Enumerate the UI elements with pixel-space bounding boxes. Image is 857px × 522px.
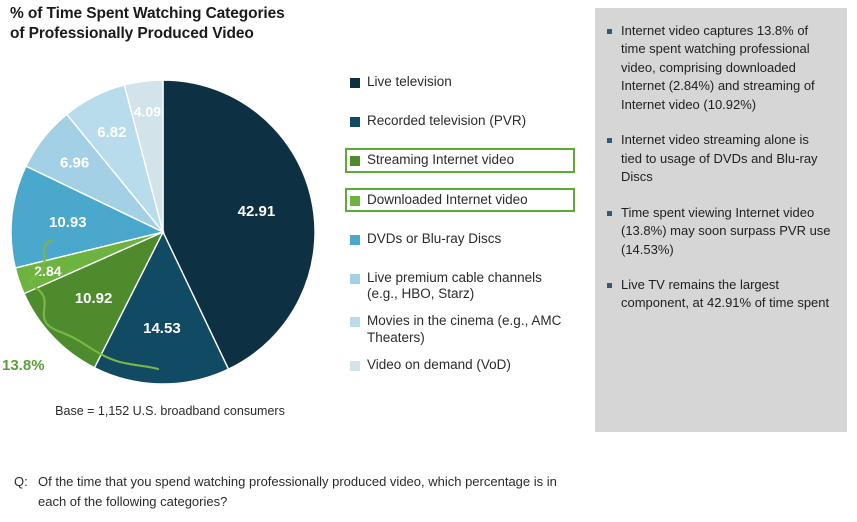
legend-item[interactable]: Recorded television (PVR) — [345, 109, 575, 133]
page-title-line-1: % of Time Spent Watching Categories — [10, 4, 350, 24]
legend-item-label: Downloaded Internet video — [367, 192, 528, 208]
legend-item[interactable]: Video on demand (VoD) — [345, 353, 575, 377]
legend-item-label: Video on demand (VoD) — [367, 357, 511, 373]
legend-item[interactable]: Live premium cable channels (e.g., HBO, … — [345, 266, 575, 306]
legend-item-label: Live television — [367, 74, 452, 90]
legend-item-label: DVDs or Blu-ray Discs — [367, 231, 501, 247]
pie-slice-value-label: 2.84 — [34, 263, 61, 279]
legend-item-label: Recorded television (PVR) — [367, 113, 526, 129]
pie-slice-value-label: 6.96 — [60, 154, 89, 171]
insight-item: Internet video captures 13.8% of time sp… — [607, 22, 831, 114]
bullet-icon — [607, 29, 612, 34]
question-label: Q: — [14, 472, 28, 492]
pie-slice-value-label: 6.82 — [97, 124, 126, 141]
legend-swatch-icon — [350, 196, 360, 206]
pie-chart: 42.9114.5310.922.8410.936.966.824.09 13.… — [0, 70, 340, 400]
legend-swatch-icon — [350, 361, 360, 371]
legend-swatch-icon — [350, 274, 360, 284]
bullet-icon — [607, 138, 612, 143]
legend-swatch-icon — [350, 78, 360, 88]
legend-item[interactable]: Movies in the cinema (e.g., AMC Theaters… — [345, 309, 575, 349]
legend-swatch-icon — [350, 317, 360, 327]
pie-chart-svg: 42.9114.5310.922.8410.936.966.824.09 13.… — [0, 70, 340, 400]
legend-item[interactable]: Streaming Internet video — [345, 148, 575, 172]
pie-slice-value-label: 4.09 — [134, 103, 161, 119]
chart-legend: Live televisionRecorded television (PVR)… — [345, 70, 575, 380]
insight-text: Live TV remains the largest component, a… — [621, 276, 831, 313]
insight-item: Live TV remains the largest component, a… — [607, 276, 831, 313]
legend-swatch-icon — [350, 235, 360, 245]
base-note: Base = 1,152 U.S. broadband consumers — [0, 404, 340, 418]
pie-slice-value-label: 10.93 — [49, 214, 87, 231]
insight-text: Time spent viewing Internet video (13.8%… — [621, 204, 831, 259]
legend-swatch-icon — [350, 156, 360, 166]
legend-item[interactable]: Live television — [345, 70, 575, 94]
page-title-line-2: of Professionally Produced Video — [10, 24, 350, 44]
survey-question: Q: Of the time that you spend watching p… — [14, 472, 574, 511]
legend-item-label: Streaming Internet video — [367, 152, 514, 168]
insight-text: Internet video captures 13.8% of time sp… — [621, 22, 831, 114]
insight-text: Internet video streaming alone is tied t… — [621, 131, 831, 186]
insight-item: Internet video streaming alone is tied t… — [607, 131, 831, 186]
pie-slice-value-label: 42.91 — [238, 203, 276, 220]
pie-slices — [11, 80, 315, 384]
legend-item-label: Movies in the cinema (e.g., AMC Theaters… — [367, 313, 570, 345]
bracket-label: 13.8% — [2, 357, 45, 374]
legend-item[interactable]: DVDs or Blu-ray Discs — [345, 227, 575, 251]
legend-swatch-icon — [350, 117, 360, 127]
legend-item[interactable]: Downloaded Internet video — [345, 188, 575, 212]
bullet-icon — [607, 283, 612, 288]
pie-slice-value-label: 14.53 — [143, 320, 181, 337]
pie-slice-value-label: 10.92 — [75, 290, 113, 307]
insights-panel: Internet video captures 13.8% of time sp… — [595, 8, 847, 432]
question-text: Of the time that you spend watching prof… — [38, 472, 574, 511]
insight-item: Time spent viewing Internet video (13.8%… — [607, 204, 831, 259]
bullet-icon — [607, 211, 612, 216]
legend-item-label: Live premium cable channels (e.g., HBO, … — [367, 270, 570, 302]
page-title: % of Time Spent Watching Categories of P… — [10, 4, 350, 44]
